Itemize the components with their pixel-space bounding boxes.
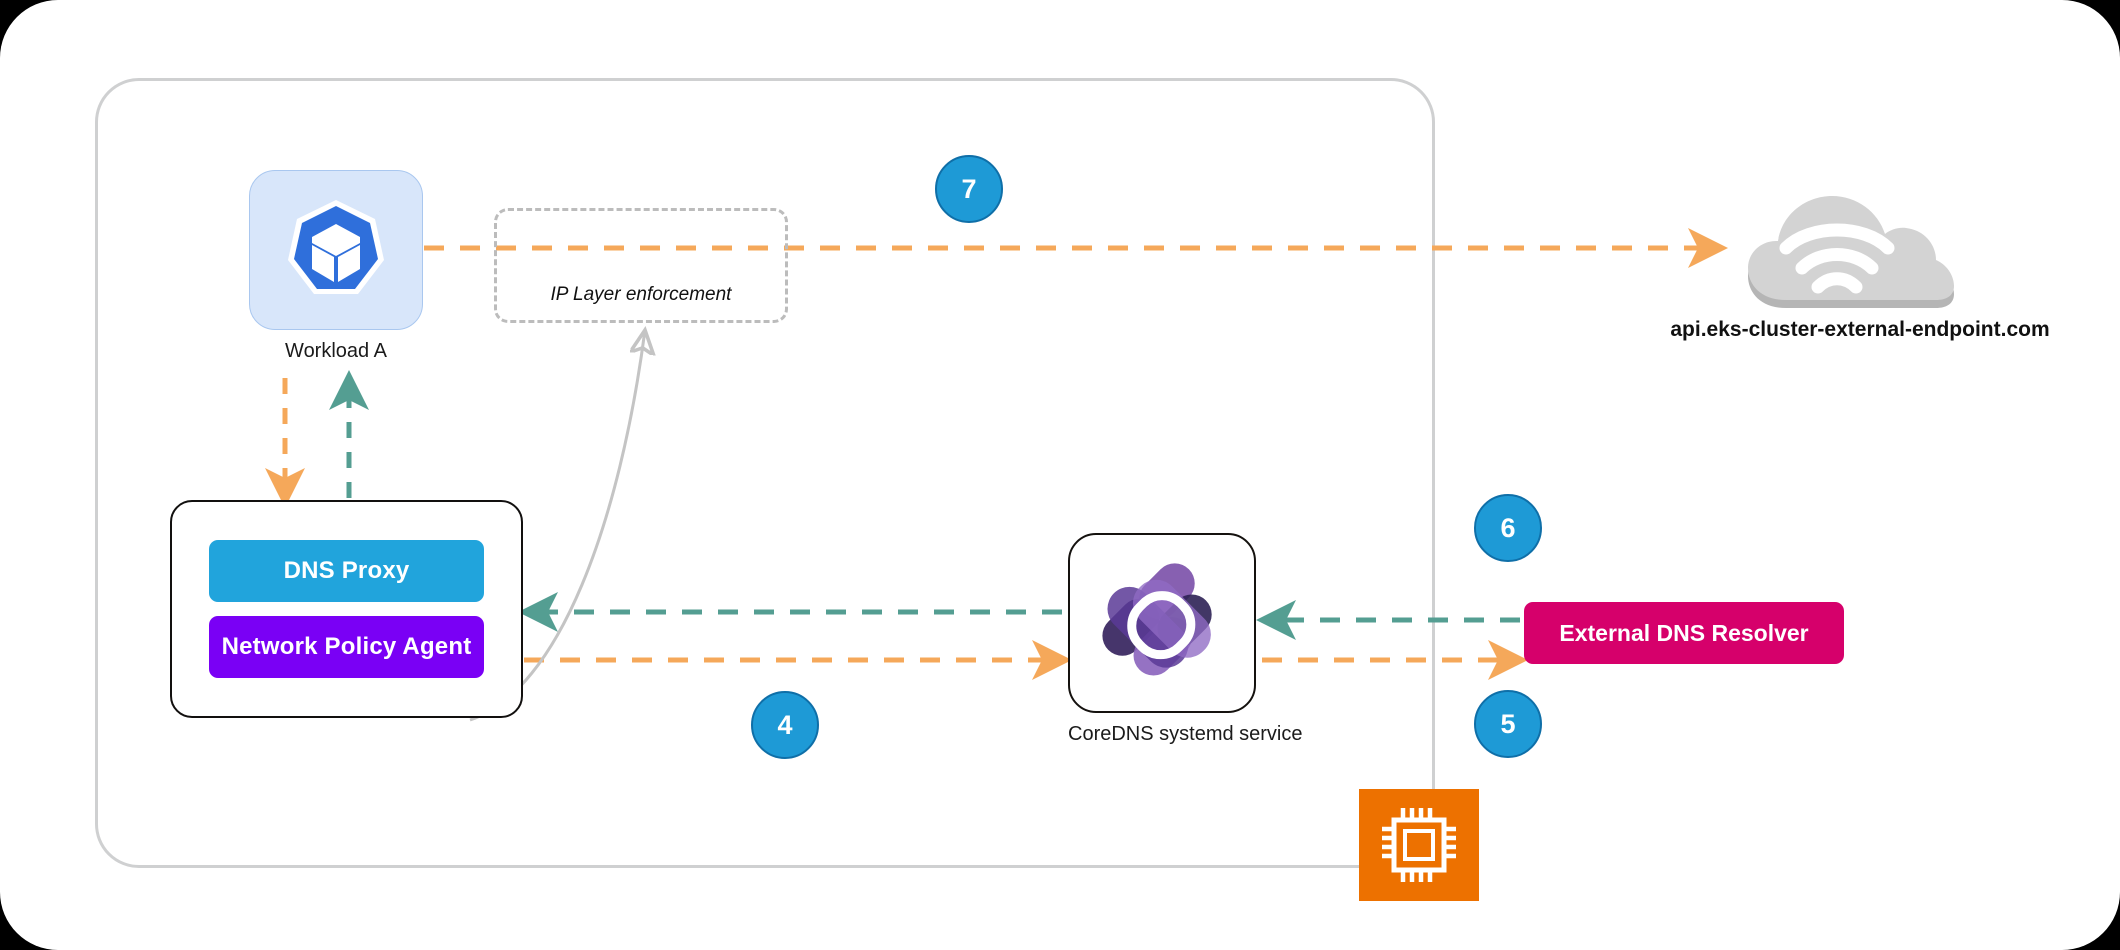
external-endpoint-label: api.eks-cluster-external-endpoint.com [1630, 318, 2090, 342]
workload-a-node[interactable]: Workload A [249, 170, 423, 330]
step-badge-4: 4 [751, 691, 819, 759]
kubernetes-icon [280, 194, 392, 306]
external-dns-resolver-label: External DNS Resolver [1559, 620, 1808, 647]
diagram-canvas: Workload A IP Layer enforcement DNS Prox… [0, 0, 2120, 950]
network-policy-agent-block[interactable]: Network Policy Agent [209, 616, 484, 678]
coredns-tile [1068, 533, 1256, 713]
step-number-7: 7 [961, 174, 976, 205]
step-number-5: 5 [1500, 709, 1515, 740]
diagram-stage: Workload A IP Layer enforcement DNS Prox… [0, 0, 2120, 950]
ec2-chip-icon [1376, 802, 1462, 888]
kubernetes-tile [249, 170, 423, 330]
external-endpoint-node[interactable] [1740, 190, 1970, 320]
step-badge-6: 6 [1474, 494, 1542, 562]
coredns-node[interactable]: CoreDNS systemd service [1068, 533, 1256, 713]
step-number-6: 6 [1500, 513, 1515, 544]
step-badge-7: 7 [935, 155, 1003, 223]
coredns-icon [1087, 548, 1237, 698]
external-dns-resolver-block[interactable]: External DNS Resolver [1524, 602, 1844, 664]
cloud-wifi-icon [1740, 190, 1970, 320]
ec2-compute-node[interactable] [1359, 789, 1479, 901]
ip-layer-enforcement-label: IP Layer enforcement [551, 284, 732, 306]
ip-layer-enforcement-box: IP Layer enforcement [494, 208, 788, 323]
coredns-label: CoreDNS systemd service [1068, 723, 1256, 746]
dns-proxy-block[interactable]: DNS Proxy [209, 540, 484, 602]
agent-container: DNS Proxy Network Policy Agent [170, 500, 523, 718]
network-policy-agent-label: Network Policy Agent [222, 633, 472, 661]
step-number-4: 4 [777, 710, 792, 741]
step-badge-5: 5 [1474, 690, 1542, 758]
workload-a-label: Workload A [249, 340, 423, 363]
dns-proxy-label: DNS Proxy [284, 557, 410, 585]
